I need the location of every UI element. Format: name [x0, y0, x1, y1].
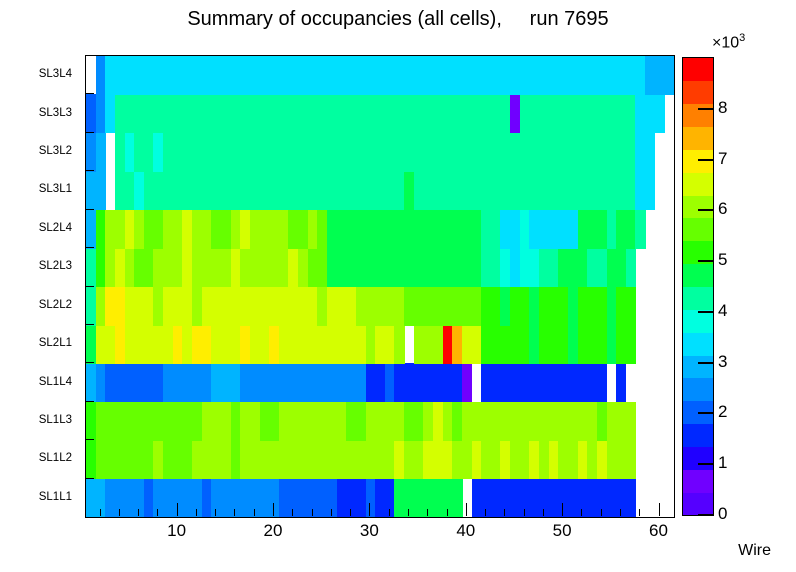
heatmap-cell [664, 56, 674, 95]
x-axis-tick [562, 503, 563, 516]
y-axis-label-sl2l3: SL2L3 [39, 260, 72, 272]
colorbar-tick [698, 209, 714, 211]
y-axis-tick [85, 439, 94, 440]
x-axis-tick [389, 509, 390, 516]
x-axis-tick-label: 50 [553, 521, 572, 541]
heatmap-cell [626, 325, 636, 364]
y-axis-label-sl1l4: SL1L4 [39, 376, 72, 388]
colorbar-tick [698, 463, 714, 465]
x-axis-tick [119, 509, 120, 516]
heatmap-cell [616, 363, 626, 402]
x-axis-tick [292, 509, 293, 516]
colorbar-ticks: 012345678 [682, 57, 742, 514]
colorbar-tick [698, 412, 714, 414]
heatmap-cell [96, 133, 106, 172]
x-axis-tick [485, 509, 486, 516]
y-axis-tick [85, 170, 94, 171]
x-axis-tick [138, 509, 139, 516]
heatmap-cell [394, 325, 404, 364]
heatmap-cell [645, 171, 655, 210]
y-axis-label-sl3l3: SL3L3 [39, 107, 72, 119]
colorbar-tick-label: 5 [718, 250, 727, 270]
y-axis-tick [85, 247, 94, 248]
x-axis-tick [312, 509, 313, 516]
x-axis-tick [427, 509, 428, 516]
colorbar-multiplier-base: ×10 [712, 34, 739, 51]
x-axis-tick [466, 503, 467, 516]
heatmap-cell [626, 440, 636, 479]
colorbar-tick [698, 159, 714, 161]
x-axis-tick [447, 509, 448, 516]
colorbar-tick [698, 311, 714, 313]
x-axis-title: Wire [738, 542, 771, 560]
heatmap-plot-area [85, 55, 675, 518]
y-axis-label-sl3l1: SL3L1 [39, 183, 72, 195]
y-axis-label-sl1l1: SL1L1 [39, 491, 72, 503]
heatmap-cell [635, 210, 645, 249]
x-axis-tick [524, 509, 525, 516]
colorbar-tick-label: 3 [718, 352, 727, 372]
colorbar-tick-label: 6 [718, 199, 727, 219]
y-axis-tick [85, 324, 94, 325]
colorbar-tick-label: 8 [718, 98, 727, 118]
y-axis-label-sl1l2: SL1L2 [39, 452, 72, 464]
x-axis-tick [254, 509, 255, 516]
x-axis-tick [234, 509, 235, 516]
x-axis-tick [177, 503, 178, 516]
x-axis-tick [273, 503, 274, 516]
x-axis-tick [100, 509, 101, 516]
y-axis-label-sl1l3: SL1L3 [39, 414, 72, 426]
y-axis-tick [85, 478, 94, 479]
x-axis-tick [215, 509, 216, 516]
colorbar-tick [698, 108, 714, 110]
x-axis-tick [350, 509, 351, 516]
colorbar-tick-label: 0 [718, 504, 727, 524]
y-axis-tick [85, 286, 94, 287]
y-axis-tick [85, 401, 94, 402]
x-axis-tick-label: 60 [649, 521, 668, 541]
x-axis-tick [581, 509, 582, 516]
y-axis-tick [85, 93, 94, 94]
page-title: Summary of occupancies (all cells), run … [0, 8, 796, 31]
heatmap-cells [86, 56, 674, 517]
x-axis-tick [601, 509, 602, 516]
heatmap-cell [655, 94, 665, 133]
x-axis-tick [543, 509, 544, 516]
x-axis-tick-label: 40 [456, 521, 475, 541]
heatmap-cell [645, 133, 655, 172]
heatmap-cell [462, 363, 472, 402]
heatmap-cell [597, 363, 607, 402]
heatmap-cell [626, 479, 636, 517]
x-axis-tick [369, 503, 370, 516]
colorbar-tick-label: 1 [718, 453, 727, 473]
colorbar-tick [698, 362, 714, 364]
x-axis-tick [659, 503, 660, 516]
colorbar-multiplier-exponent: 3 [739, 32, 745, 44]
colorbar-tick-label: 7 [718, 149, 727, 169]
y-axis-label-sl2l2: SL2L2 [39, 299, 72, 311]
x-axis-tick-label: 20 [264, 521, 283, 541]
y-axis-tick [85, 362, 94, 363]
y-axis-label-sl2l4: SL2L4 [39, 222, 72, 234]
heatmap-cell [626, 248, 636, 287]
x-axis-tick-label: 30 [360, 521, 379, 541]
colorbar-tick [698, 260, 714, 262]
y-axis-label-sl3l4: SL3L4 [39, 68, 72, 80]
x-axis-tick [331, 509, 332, 516]
x-axis-tick [620, 509, 621, 516]
colorbar-multiplier: ×103 [712, 32, 745, 52]
heatmap-cell [626, 402, 636, 441]
y-axis-tick [85, 132, 94, 133]
x-axis-tick [639, 509, 640, 516]
heatmap-cell [452, 479, 462, 517]
colorbar-tick-label: 2 [718, 402, 727, 422]
x-axis-tick [504, 509, 505, 516]
heatmap-cell [96, 171, 106, 210]
y-axis-labels: SL1L1SL1L2SL1L3SL1L4SL2L1SL2L2SL2L3SL2L4… [0, 55, 80, 516]
colorbar-tick [698, 514, 714, 516]
y-axis-label-sl2l1: SL2L1 [39, 337, 72, 349]
x-axis-tick-label: 10 [167, 521, 186, 541]
colorbar-tick-label: 4 [718, 301, 727, 321]
y-axis-label-sl3l2: SL3L2 [39, 145, 72, 157]
heatmap-cell [626, 287, 636, 326]
y-axis-tick [85, 209, 94, 210]
x-axis-tick [196, 509, 197, 516]
x-axis-tick [408, 509, 409, 516]
x-axis-tick [157, 509, 158, 516]
